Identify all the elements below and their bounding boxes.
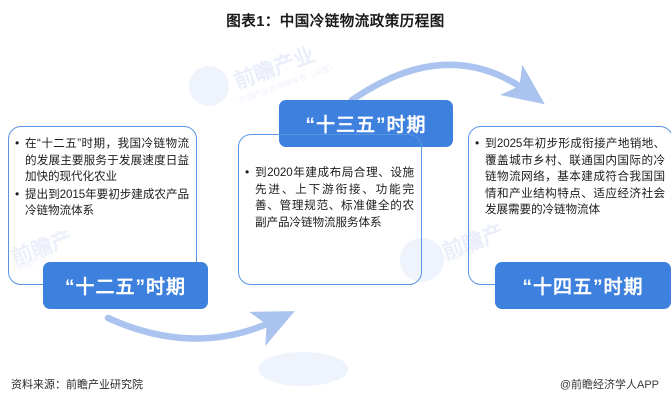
arrow-stage1-to-stage2 [108, 318, 276, 339]
page-title: 图表1：中国冷链物流政策历程图 [0, 10, 671, 31]
stage-2-bullet-1: 到2020年建成布局合理、设施先进、上下游衔接、功能完善、管理规范、标准健全的农… [255, 165, 414, 231]
watermark-brand-text: 前瞻产业 [229, 39, 318, 96]
stage-3-label[interactable]: “十四五”时期 [495, 262, 671, 309]
stage-3-bullet-1: 到2025年初步形成衔接产地销地、覆盖城市乡村、联通国内国际的冷链物流网络，基本… [485, 136, 665, 219]
stage-1-label[interactable]: “十二五”时期 [43, 262, 208, 309]
source-note: 资料来源：前瞻产业研究院 [11, 376, 143, 392]
stage-1-bullet-2: 提出到2015年要初步建成农产品冷链物流体系 [25, 187, 189, 220]
watermark-circle-left [189, 66, 229, 106]
attribution-note: @前瞻经济学人APP [560, 376, 659, 392]
arrow-stage2-to-stage3 [352, 65, 528, 100]
watermark-circle-bottom [258, 352, 348, 386]
stage-2-content-box: 到2020年建成布局合理、设施先进、上下游衔接、功能完善、管理规范、标准健全的农… [238, 134, 422, 285]
stage-1-bullet-1: 在“十二五”时期，我国冷链物流的发展主要服务于发展速度日益加快的现代化农业 [25, 136, 189, 186]
